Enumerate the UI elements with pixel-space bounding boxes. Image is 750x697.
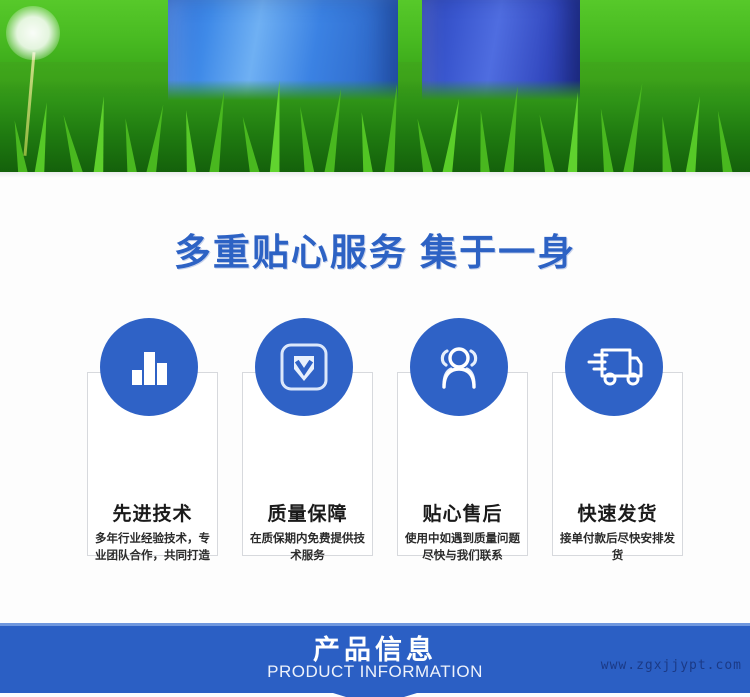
banner-divider: [0, 172, 750, 178]
feature-card-description: 接单付款后尽快安排发货: [559, 531, 676, 565]
feature-card-description: 在质保期内免费提供技术服务: [249, 531, 366, 565]
feature-icon-badge: [410, 318, 508, 416]
people-group-icon: [431, 341, 487, 393]
shield-check-icon: [278, 341, 330, 393]
feature-icon-badge: [565, 318, 663, 416]
feature-card-list: 先进技术 多年行业经验技术，专业团队合作，共同打造 质量保障 在质保期内免费提供…: [87, 318, 663, 558]
dandelion-icon: [6, 6, 60, 60]
delivery-truck-icon: [585, 345, 643, 389]
feature-card-title: 先进技术: [88, 499, 217, 526]
feature-card-description: 多年行业经验技术，专业团队合作，共同打造: [94, 531, 211, 565]
bar-chart-icon: [125, 343, 173, 391]
site-watermark: www.zgxjjypt.com: [601, 658, 742, 673]
feature-card-description: 使用中如遇到质量问题尽快与我们联系: [404, 531, 521, 565]
hero-banner-image: [0, 0, 750, 172]
footer-notch: [333, 693, 417, 697]
product-detail-page: 多重贴心服务 集于一身 先进技术 多年行业经验技术，专业团队合作，共同打造 质量…: [0, 0, 750, 697]
feature-icon-badge: [100, 318, 198, 416]
feature-card-title: 快速发货: [553, 499, 682, 526]
section-title: 多重贴心服务 集于一身: [0, 222, 750, 276]
feature-card-title: 贴心售后: [398, 499, 527, 526]
feature-card-title: 质量保障: [243, 499, 372, 526]
feature-icon-badge: [255, 318, 353, 416]
